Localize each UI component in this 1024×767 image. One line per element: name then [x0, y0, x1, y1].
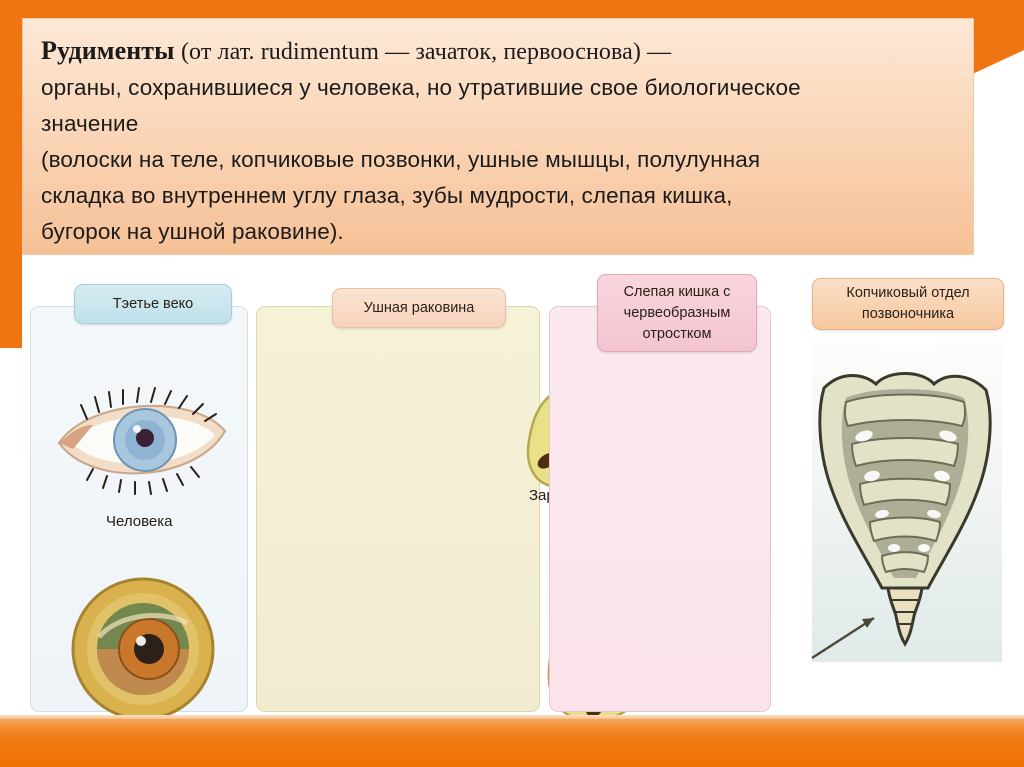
- panel-third-eyelid: Человека Птицы: [30, 306, 248, 712]
- definition-line-5: складка во внутреннем углу глаза, зубы м…: [41, 178, 955, 214]
- definition-line-6: бугорок на ушной раковине).: [41, 214, 955, 250]
- panel-header-auricle: Ушная раковина: [332, 288, 506, 328]
- term-latin-origin: (от лат. rudimentum — зачаток, первоосно…: [181, 39, 671, 65]
- sacrum-coccyx-illustration: [802, 340, 1008, 670]
- top-accent-band: [0, 0, 1024, 18]
- panel-header-third-eyelid-label: Тэетье веко: [113, 294, 193, 315]
- panel-header-caecum: Слепая кишка с червеобразным отростком: [597, 274, 757, 352]
- definition-first-line: Рудименты (от лат. rudimentum — зачаток,…: [41, 33, 955, 70]
- definition-line-2: органы, сохранившиеся у человека, но утр…: [41, 70, 955, 106]
- panel-header-coccyx-label: Копчиковый отдел позвоночника: [822, 283, 994, 325]
- term-rudiments: Рудименты: [41, 36, 175, 65]
- left-accent-band: [0, 0, 22, 348]
- caption-human-eye: Человека: [106, 513, 172, 530]
- bottom-accent-band: [0, 719, 1024, 767]
- panel-header-third-eyelid: Тэетье веко: [74, 284, 232, 324]
- slide-root: Рудименты (от лат. rudimentum — зачаток,…: [0, 0, 1024, 767]
- panel-header-coccyx: Копчиковый отдел позвоночника: [812, 278, 1004, 330]
- coccyx-pointer-arrow: [812, 618, 874, 658]
- definition-line-3: значение: [41, 106, 955, 142]
- panel-caecum: Человека Копытного: [549, 306, 771, 712]
- panel-header-caecum-label: Слепая кишка с червеобразным отростком: [607, 282, 747, 345]
- panel-auricle: Зародыша Человека Обезьяны: [256, 306, 540, 712]
- definition-box: Рудименты (от лат. rudimentum — зачаток,…: [22, 18, 974, 255]
- panel-header-auricle-label: Ушная раковина: [364, 298, 475, 319]
- definition-line-4: (волоски на теле, копчиковые позвонки, у…: [41, 142, 955, 178]
- human-eye-illustration: [53, 385, 231, 495]
- bird-eye-illustration: [69, 575, 217, 723]
- figures-area: Человека Птицы Тэетье веко: [22, 258, 1024, 713]
